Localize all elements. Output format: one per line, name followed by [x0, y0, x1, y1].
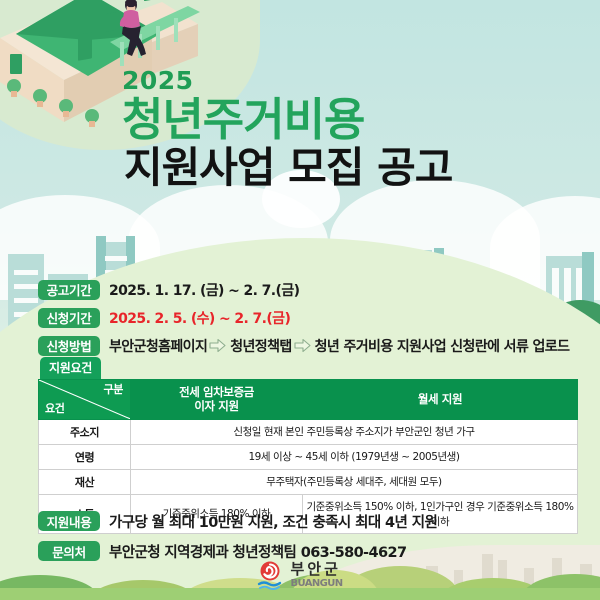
corner-label-requirement: 요건: [45, 402, 64, 416]
corner-label-category: 구분: [104, 383, 123, 397]
table-tab-label: 지원요건: [40, 357, 101, 379]
table-col-header-wolse: 월세 지원: [303, 380, 578, 420]
info-row-apply-period: 신청기간 2025. 2. 5. (수) ~ 2. 7.(금): [38, 306, 578, 329]
table-corner-cell: 구분 요건: [39, 380, 131, 420]
table-head: 구분 요건 전세 임차보증금 이자 지원 월세 지원: [39, 380, 578, 420]
row-value-address: 신청일 현재 본인 주민등록상 주소지가 부안군인 청년 가구: [131, 419, 578, 444]
badge-apply-period: 신청기간: [38, 308, 100, 328]
badge-apply-method: 신청방법: [38, 336, 100, 356]
poster-root: 2025 청년주거비용 지원사업 모집 공고 공고기간 2025. 1. 17.…: [0, 0, 600, 600]
row-label-age: 연령: [39, 444, 131, 469]
page-title-line2: 지원사업 모집 공고: [124, 146, 452, 190]
jeonse-header-line2: 이자 지원: [133, 399, 300, 413]
info-rows: 공고기간 2025. 1. 17. (금) ~ 2. 7.(금) 신청기간 20…: [38, 278, 578, 362]
notice-period-value: 2025. 1. 17. (금) ~ 2. 7.(금): [109, 280, 299, 300]
arrow-right-outline-icon: [209, 338, 226, 353]
buangun-logo: 부안군 BUANGUN: [0, 560, 600, 590]
table-row: 재산 무주택자(주민등록상 세대주, 세대원 모두): [39, 469, 578, 494]
apply-method-step3: 청년 주거비용 지원사업 신청란에 서류 업로드: [315, 336, 570, 356]
row-value-asset: 무주택자(주민등록상 세대주, 세대원 모두): [131, 469, 578, 494]
badge-notice-period: 공고기간: [38, 280, 100, 300]
contact-value: 부안군청 지역경제과 청년정책팀 063-580-4627: [109, 541, 406, 562]
page-title-line1: 청년주거비용: [122, 97, 452, 144]
info-row-apply-method: 신청방법 부안군청홈페이지 청년정책탭 청년 주거비용 지원사업 신청란에 서류…: [38, 334, 578, 357]
row-label-address: 주소지: [39, 419, 131, 444]
table-row: 연령 19세 이상 ~ 45세 이하 (1979년생 ~ 2005년생): [39, 444, 578, 469]
requirements-table-block: 지원요건 구분 요건 전세 임차보증금 이자 지원 월세 지원: [38, 357, 578, 534]
table-col-header-jeonse: 전세 임차보증금 이자 지원: [131, 380, 303, 420]
logo-name-kr: 부안군: [290, 562, 342, 577]
headline-block: 2025 청년주거비용 지원사업 모집 공고: [122, 68, 452, 190]
logo-text: 부안군 BUANGUN: [290, 562, 342, 589]
badge-support-details: 지원내용: [38, 511, 100, 531]
buan-spiral-wave-emblem-icon: [257, 560, 283, 590]
apply-method-step2: 청년정책탭: [230, 336, 291, 356]
apply-period-value: 2025. 2. 5. (수) ~ 2. 7.(금): [109, 308, 290, 328]
table-row: 주소지 신청일 현재 본인 주민등록상 주소지가 부안군인 청년 가구: [39, 419, 578, 444]
jeonse-header-line1: 전세 임차보증금: [133, 385, 300, 399]
support-details-value: 가구당 월 최대 10만원 지원, 조건 충족시 최대 4년 지원: [109, 511, 437, 532]
arrow-right-outline-icon: [294, 338, 311, 353]
table-header-row: 구분 요건 전세 임차보증금 이자 지원 월세 지원: [39, 380, 578, 420]
page-year: 2025: [122, 68, 452, 93]
row-label-asset: 재산: [39, 469, 131, 494]
info-row-support-details: 지원내용 가구당 월 최대 10만원 지원, 조건 충족시 최대 4년 지원: [38, 509, 578, 533]
badge-contact: 문의처: [38, 541, 100, 561]
row-value-age: 19세 이상 ~ 45세 이하 (1979년생 ~ 2005년생): [131, 444, 578, 469]
apply-method-step1: 부안군청홈페이지: [109, 336, 207, 356]
logo-name-en: BUANGUN: [290, 579, 342, 589]
info-row-notice-period: 공고기간 2025. 1. 17. (금) ~ 2. 7.(금): [38, 278, 578, 301]
